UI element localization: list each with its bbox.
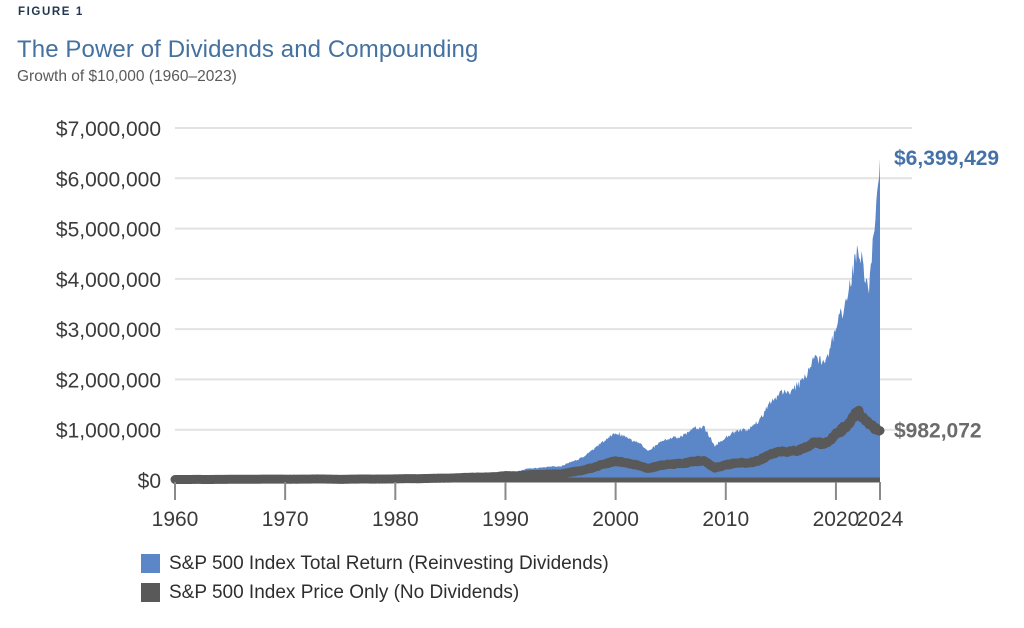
y-axis-tick-label: $6,000,000 (56, 168, 161, 191)
figure-page: FIGURE 1 The Power of Dividends and Comp… (0, 0, 1024, 628)
figure-number-label: FIGURE 1 (18, 6, 84, 18)
y-axis-tick-label: $3,000,000 (56, 319, 161, 342)
x-axis-tick-label: 2000 (592, 508, 639, 528)
y-axis-labels-group: $0$1,000,000$2,000,000$3,000,000$4,000,0… (56, 118, 161, 493)
legend-label-total-return: S&P 500 Index Total Return (Reinvesting … (169, 554, 609, 573)
chart-plot-area: $0$1,000,000$2,000,000$3,000,000$4,000,0… (0, 108, 1024, 528)
series-group (175, 158, 880, 480)
legend-item-total-return: S&P 500 Index Total Return (Reinvesting … (141, 549, 901, 578)
x-axis-tick-label: 1990 (482, 508, 529, 528)
y-axis-tick-label: $1,000,000 (56, 420, 161, 443)
end-label-total-return: $6,399,429 (894, 147, 999, 170)
x-axis-tick-label: 2010 (702, 508, 749, 528)
x-axis-labels-group: 19601970198019902000201020202024 (152, 508, 904, 528)
y-axis-tick-label: $2,000,000 (56, 369, 161, 392)
legend-label-price-only: S&P 500 Index Price Only (No Dividends) (169, 583, 519, 602)
chart-title: The Power of Dividends and Compounding (17, 36, 478, 64)
legend-swatch-total-return (141, 554, 160, 573)
y-axis-tick-label: $0 (138, 470, 161, 493)
chart-svg: $0$1,000,000$2,000,000$3,000,000$4,000,0… (0, 108, 1024, 528)
x-axis-tick-label: 2024 (857, 508, 904, 528)
legend-item-price-only: S&P 500 Index Price Only (No Dividends) (141, 578, 901, 607)
area-total-return (175, 158, 880, 480)
x-axis-tick-label: 1980 (372, 508, 419, 528)
legend-swatch-price-only (141, 583, 160, 602)
chart-legend: S&P 500 Index Total Return (Reinvesting … (141, 549, 901, 607)
series-end-labels-group: $6,399,429$982,072 (894, 147, 999, 442)
chart-subtitle: Growth of $10,000 (1960–2023) (17, 68, 237, 86)
end-label-price-only: $982,072 (894, 420, 982, 443)
x-axis-tick-label: 1960 (152, 508, 199, 528)
y-axis-tick-label: $5,000,000 (56, 219, 161, 242)
x-axis-tick-label: 2020 (813, 508, 860, 528)
x-tick-marks-group (175, 482, 880, 500)
x-axis-tick-label: 1970 (262, 508, 309, 528)
y-axis-tick-label: $4,000,000 (56, 269, 161, 292)
y-axis-tick-label: $7,000,000 (56, 118, 161, 141)
